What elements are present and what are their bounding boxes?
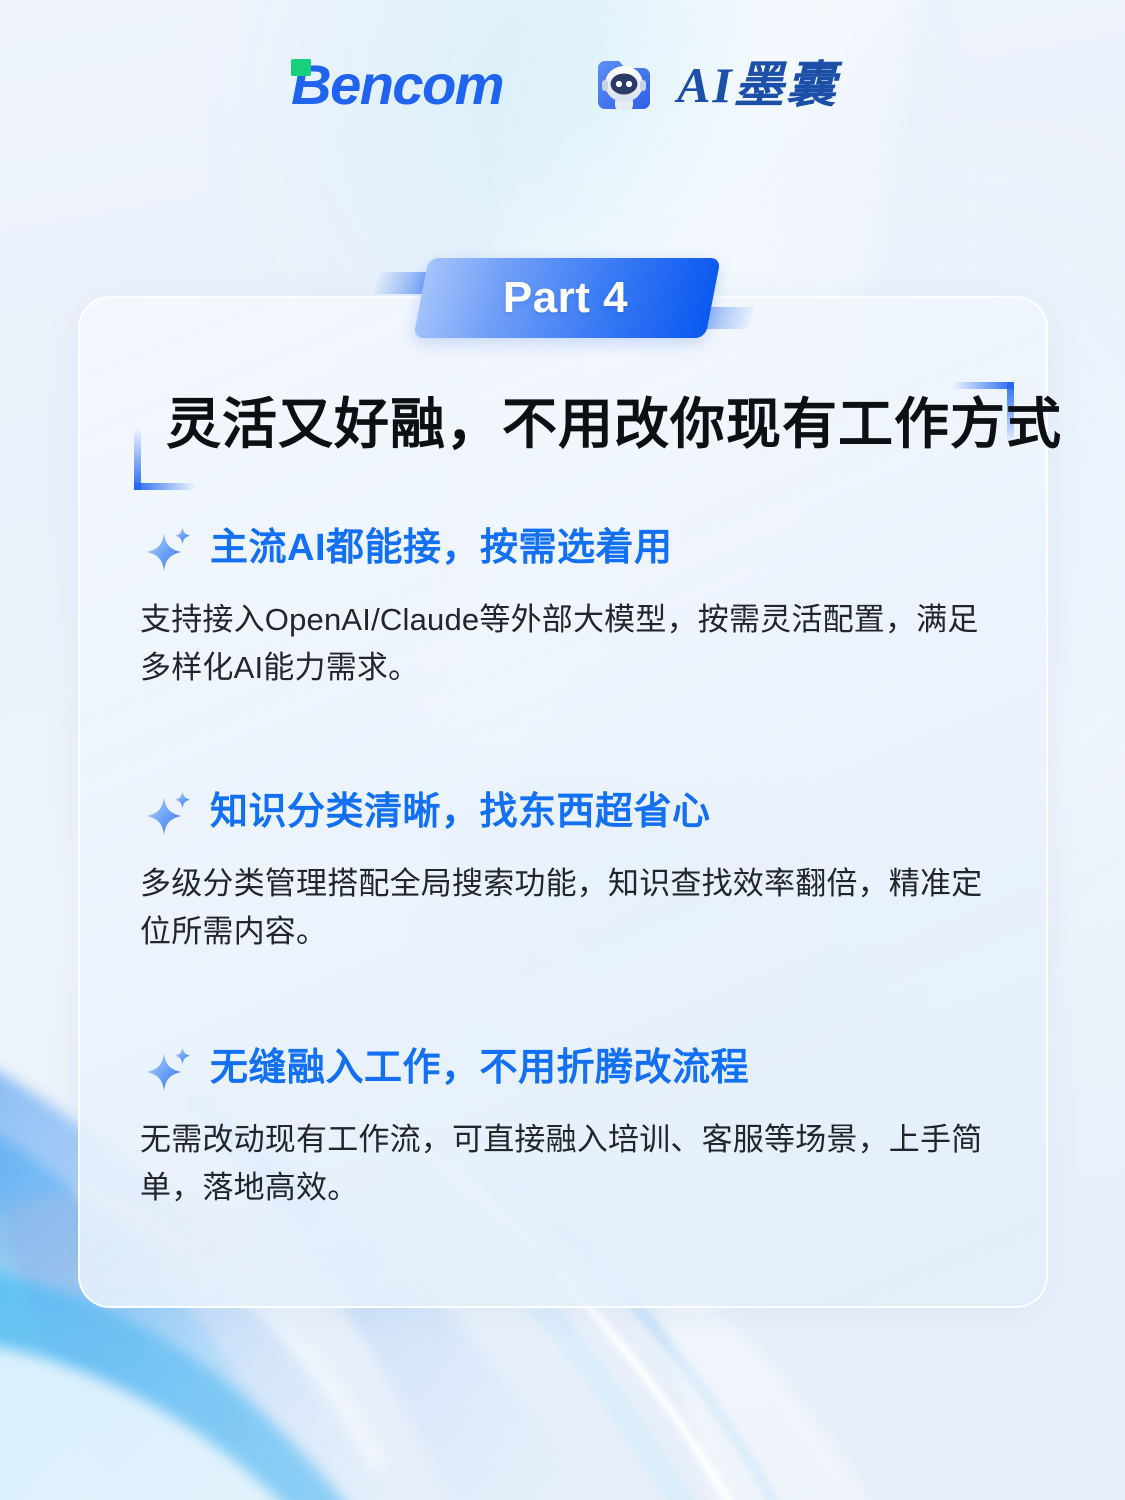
robot-folder-icon xyxy=(591,52,657,118)
feature-body: 多级分类管理搭配全局搜索功能，知识查找效率翻倍，精准定位所需内容。 xyxy=(140,860,992,956)
feature-body: 支持接入OpenAI/Claude等外部大模型，按需灵活配置，满足多样化AI能力… xyxy=(140,596,992,692)
product-wordmark: AI墨囊 xyxy=(677,60,838,110)
feature-body: 无需改动现有工作流，可直接融入培训、客服等场景，上手简单，落地高效。 xyxy=(140,1116,992,1212)
header-logos: Bencom xyxy=(0,52,1125,118)
bencom-logo: Bencom xyxy=(287,57,503,113)
feature-title: 知识分类清晰，找东西超省心 xyxy=(210,790,711,836)
feature-heading-row: 无缝融入工作，不用折腾改流程 xyxy=(140,1044,1002,1094)
part-banner: Part 4 xyxy=(373,258,753,338)
bencom-accent-square xyxy=(291,59,311,76)
banner-label: Part 4 xyxy=(373,258,753,338)
feature-heading-row: 主流AI都能接，按需选着用 xyxy=(140,524,1002,574)
feature-item: 主流AI都能接，按需选着用 支持接入OpenAI/Claude等外部大模型，按需… xyxy=(140,524,1002,692)
feature-item: 无缝融入工作，不用折腾改流程 无需改动现有工作流，可直接融入培训、客服等场景，上… xyxy=(140,1044,1002,1212)
feature-heading-row: 知识分类清晰，找东西超省心 xyxy=(140,788,1002,838)
sparkle-icon xyxy=(144,788,194,838)
sparkle-icon xyxy=(144,1044,194,1094)
feature-list: 主流AI都能接，按需选着用 支持接入OpenAI/Claude等外部大模型，按需… xyxy=(140,524,1002,1212)
page-title: 灵活又好融，不用改你现有工作方式 xyxy=(166,386,1062,463)
feature-title: 主流AI都能接，按需选着用 xyxy=(210,526,673,572)
bencom-wordmark: Bencom xyxy=(291,53,503,116)
feature-item: 知识分类清晰，找东西超省心 多级分类管理搭配全局搜索功能，知识查找效率翻倍，精准… xyxy=(140,788,1002,956)
sparkle-icon xyxy=(144,524,194,574)
product-logo-group: AI墨囊 xyxy=(591,52,838,118)
title-block: 灵活又好融，不用改你现有工作方式 xyxy=(134,382,1014,490)
feature-title: 无缝融入工作，不用折腾改流程 xyxy=(210,1046,749,1092)
